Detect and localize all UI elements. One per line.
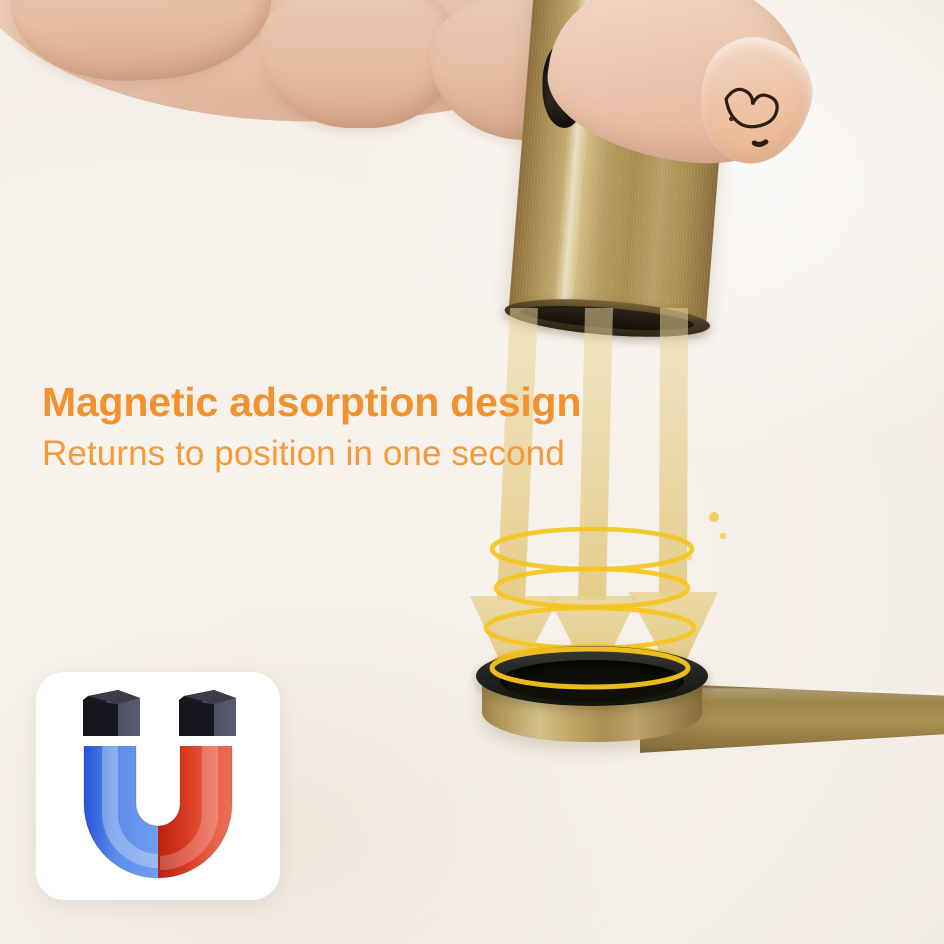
dock-rim: [476, 646, 708, 706]
horseshoe-magnet-icon: [62, 686, 254, 886]
magnet-pole-tip-left: [83, 690, 140, 736]
flow-arrow-left: [470, 308, 560, 688]
swirl-ring-1: [492, 529, 692, 569]
magnet-pole-tip-right: [179, 690, 236, 736]
swirl-ring-2: [496, 569, 688, 607]
sparkle-dot: [709, 512, 719, 522]
flow-arrow-center: [548, 308, 638, 688]
flow-arrow-group: [470, 308, 718, 688]
faucet-dock-base: [476, 640, 708, 770]
page-subtitle: Returns to position in one second: [42, 430, 802, 478]
sparkle-group: [687, 512, 726, 561]
dock-socket-opening: [500, 660, 684, 702]
page-title: Magnetic adsorption design: [42, 376, 802, 428]
flow-arrow-right: [628, 308, 718, 682]
sparkle-dot: [720, 533, 727, 540]
product-marketing-image: Magnetic adsorption design Returns to po…: [0, 0, 944, 944]
magnet-feature-badge: [36, 672, 280, 900]
headline-block: Magnetic adsorption design Returns to po…: [42, 376, 802, 478]
sparkle-dot: [687, 555, 692, 560]
